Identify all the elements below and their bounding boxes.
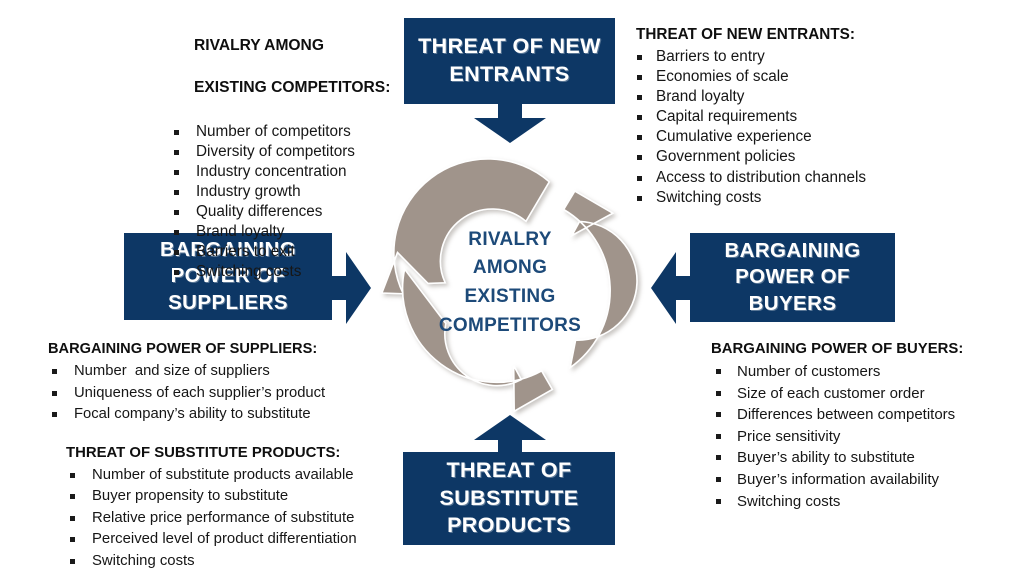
square-bullet-icon <box>70 516 75 521</box>
square-bullet-icon <box>70 559 75 564</box>
list-item: Industry growth <box>168 182 400 202</box>
list-item: Switching costs <box>636 188 926 208</box>
list-item-label: Number and size of suppliers <box>74 363 270 379</box>
heading-line-2: EXISTING COMPETITORS: <box>194 79 390 96</box>
list-item: Brand loyalty <box>636 87 926 107</box>
bullet-list-suppliers: Number and size of suppliers Uniqueness … <box>48 361 348 426</box>
ring-arc-right <box>564 191 637 367</box>
list-item-label: Cumulative experience <box>656 128 812 145</box>
list-item-label: Capital requirements <box>656 108 797 125</box>
list-item-label: Perceived level of product differentiati… <box>92 531 357 547</box>
square-bullet-icon <box>174 150 179 155</box>
list-item: Industry concentration <box>168 162 400 182</box>
square-bullet-icon <box>174 230 179 235</box>
square-bullet-icon <box>174 250 179 255</box>
list-item-label: Size of each customer order <box>737 385 925 402</box>
bullet-list-buyers: Number of customers Size of each custome… <box>711 361 1011 512</box>
heading-line-1: RIVALRY AMONG <box>194 37 324 54</box>
list-item-label: Number of substitute products available <box>92 467 354 483</box>
square-bullet-icon <box>174 270 179 275</box>
block-heading-buyers: BARGAINING POWER OF BUYERS: <box>711 339 1011 359</box>
list-item: Economies of scale <box>636 67 926 87</box>
list-item-label: Barriers to entry <box>656 48 765 65</box>
block-heading-rivalry: RIVALRY AMONG EXISTING COMPETITORS: <box>168 14 400 119</box>
list-item-label: Price sensitivity <box>737 428 840 445</box>
list-item-label: Government policies <box>656 148 795 165</box>
square-bullet-icon <box>637 155 642 160</box>
list-item-label: Buyer propensity to substitute <box>92 488 288 504</box>
square-bullet-icon <box>174 190 179 195</box>
square-bullet-icon <box>52 369 57 374</box>
list-item-label: Access to distribution channels <box>656 169 866 186</box>
square-bullet-icon <box>174 170 179 175</box>
square-bullet-icon <box>70 537 75 542</box>
square-bullet-icon <box>637 95 642 100</box>
list-item: Number of substitute products available <box>66 465 396 486</box>
list-item: Government policies <box>636 147 926 167</box>
text-block-suppliers: BARGAINING POWER OF SUPPLIERS: Number an… <box>48 339 348 426</box>
list-item: Switching costs <box>711 491 1011 513</box>
list-item: Uniqueness of each supplier’s product <box>48 383 348 405</box>
list-item: Differences between competitors <box>711 404 1011 426</box>
diagram-canvas: RIVALRY AMONG EXISTING COMPETITORS THREA… <box>0 0 1024 575</box>
square-bullet-icon <box>174 130 179 135</box>
box-top-line-2: ENTRANTS <box>449 62 569 86</box>
text-block-substitutes: THREAT OF SUBSTITUTE PRODUCTS: Number of… <box>66 443 396 572</box>
square-bullet-icon <box>637 75 642 80</box>
force-box-bargaining-power-of-buyers[interactable]: BARGAINING POWER OF BUYERS <box>690 233 895 322</box>
list-item: Quality differences <box>168 202 400 222</box>
box-left-line-3: SUPPLIERS <box>168 291 288 314</box>
list-item: Number of customers <box>711 361 1011 383</box>
ring-arc-bottom-left <box>403 269 553 411</box>
square-bullet-icon <box>70 494 75 499</box>
block-heading-new-entrants: THREAT OF NEW ENTRANTS: <box>636 24 926 45</box>
list-item-label: Buyer’s information availability <box>737 471 939 488</box>
square-bullet-icon <box>70 473 75 478</box>
text-block-buyers: BARGAINING POWER OF BUYERS: Number of cu… <box>711 339 1011 512</box>
list-item-label: Number of competitors <box>196 123 351 140</box>
box-right-line-3: BUYERS <box>749 292 837 315</box>
list-item-label: Brand loyalty <box>656 88 744 105</box>
force-box-threat-of-new-entrants[interactable]: THREAT OF NEW ENTRANTS <box>404 18 615 104</box>
list-item-label: Switching costs <box>656 189 761 206</box>
list-item: Relative price performance of substitute <box>66 508 396 529</box>
list-item: Number of competitors <box>168 122 400 142</box>
square-bullet-icon <box>637 135 642 140</box>
ring-arrow-group <box>382 159 637 411</box>
list-item-label: Relative price performance of substitute <box>92 510 354 526</box>
list-item-label: Industry concentration <box>196 163 347 180</box>
list-item-label: Differences between competitors <box>737 406 955 423</box>
square-bullet-icon <box>52 412 57 417</box>
text-block-new-entrants: THREAT OF NEW ENTRANTS: Barriers to entr… <box>636 24 926 208</box>
list-item: Access to distribution channels <box>636 168 926 188</box>
block-heading-substitutes: THREAT OF SUBSTITUTE PRODUCTS: <box>66 443 396 463</box>
arrow-down-new-entrants <box>472 102 548 144</box>
list-item: Buyer’s information availability <box>711 469 1011 491</box>
list-item-label: Number of customers <box>737 363 880 380</box>
list-item: Diversity of competitors <box>168 142 400 162</box>
square-bullet-icon <box>716 412 721 417</box>
square-bullet-icon <box>174 210 179 215</box>
list-item: Price sensitivity <box>711 426 1011 448</box>
square-bullet-icon <box>716 477 721 482</box>
list-item-label: Buyer’s ability to substitute <box>737 449 915 466</box>
force-box-threat-of-substitute-products[interactable]: THREAT OF SUBSTITUTE PRODUCTS <box>403 452 615 545</box>
square-bullet-icon <box>52 391 57 396</box>
list-item: Capital requirements <box>636 107 926 127</box>
bullet-list-substitutes: Number of substitute products available … <box>66 465 396 572</box>
box-top-line-1: THREAT OF NEW <box>418 34 601 58</box>
list-item: Switching costs <box>168 262 400 282</box>
list-item-label: Industry growth <box>196 183 301 200</box>
list-item-label: Focal company’s ability to substitute <box>74 406 311 422</box>
list-item: Focal company’s ability to substitute <box>48 404 348 426</box>
list-item-label: Brand loyalty <box>196 223 284 240</box>
list-item-label: Barriers to exit <box>196 243 295 260</box>
square-bullet-icon <box>637 196 642 201</box>
list-item: Switching costs <box>66 551 396 572</box>
square-bullet-icon <box>637 55 642 60</box>
block-heading-suppliers: BARGAINING POWER OF SUPPLIERS: <box>48 339 348 359</box>
list-item-label: Quality differences <box>196 203 322 220</box>
box-right-line-1: BARGAINING <box>724 239 860 262</box>
square-bullet-icon <box>637 176 642 181</box>
list-item: Buyer propensity to substitute <box>66 486 396 507</box>
list-item: Buyer’s ability to substitute <box>711 447 1011 469</box>
list-item-label: Switching costs <box>737 493 840 510</box>
rivalry-cycle-ring <box>366 141 654 429</box>
list-item-label: Diversity of competitors <box>196 143 355 160</box>
list-item-label: Switching costs <box>196 263 301 280</box>
text-block-rivalry: RIVALRY AMONG EXISTING COMPETITORS: Numb… <box>168 14 400 282</box>
list-item-label: Economies of scale <box>656 68 789 85</box>
bullet-list-rivalry: Number of competitors Diversity of compe… <box>168 122 400 282</box>
list-item: Size of each customer order <box>711 383 1011 405</box>
list-item: Number and size of suppliers <box>48 361 348 383</box>
square-bullet-icon <box>716 391 721 396</box>
square-bullet-icon <box>637 115 642 120</box>
list-item-label: Uniqueness of each supplier’s product <box>74 385 325 401</box>
square-bullet-icon <box>716 499 721 504</box>
bullet-list-new-entrants: Barriers to entry Economies of scale Bra… <box>636 47 926 208</box>
list-item: Barriers to exit <box>168 242 400 262</box>
square-bullet-icon <box>716 369 721 374</box>
list-item: Brand loyalty <box>168 222 400 242</box>
list-item: Cumulative experience <box>636 127 926 147</box>
list-item: Perceived level of product differentiati… <box>66 529 396 550</box>
arrow-up-substitute-products <box>472 414 548 456</box>
box-bottom-line-1: THREAT OF <box>446 458 571 482</box>
arrow-left-buyers <box>650 250 692 326</box>
list-item: Barriers to entry <box>636 47 926 67</box>
box-bottom-line-3: PRODUCTS <box>447 513 571 537</box>
list-item-label: Switching costs <box>92 553 195 569</box>
box-bottom-line-2: SUBSTITUTE <box>440 486 579 510</box>
square-bullet-icon <box>716 434 721 439</box>
square-bullet-icon <box>716 455 721 460</box>
box-right-line-2: POWER OF <box>735 265 850 288</box>
